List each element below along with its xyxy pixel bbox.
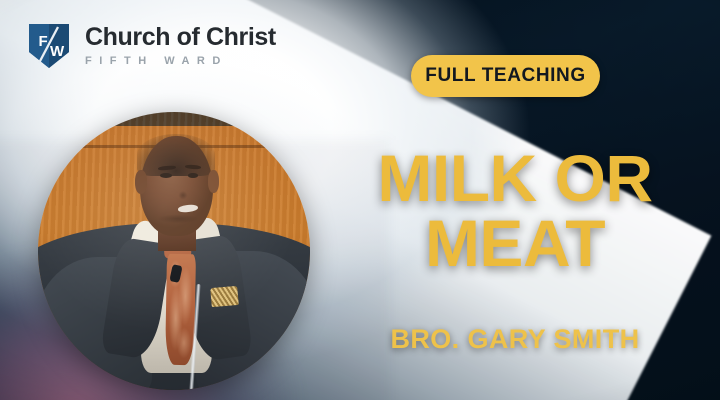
- vignette-overlay: [0, 0, 720, 400]
- video-thumbnail: F W Church of Christ FIFTH WARD FULL TEA…: [0, 0, 720, 400]
